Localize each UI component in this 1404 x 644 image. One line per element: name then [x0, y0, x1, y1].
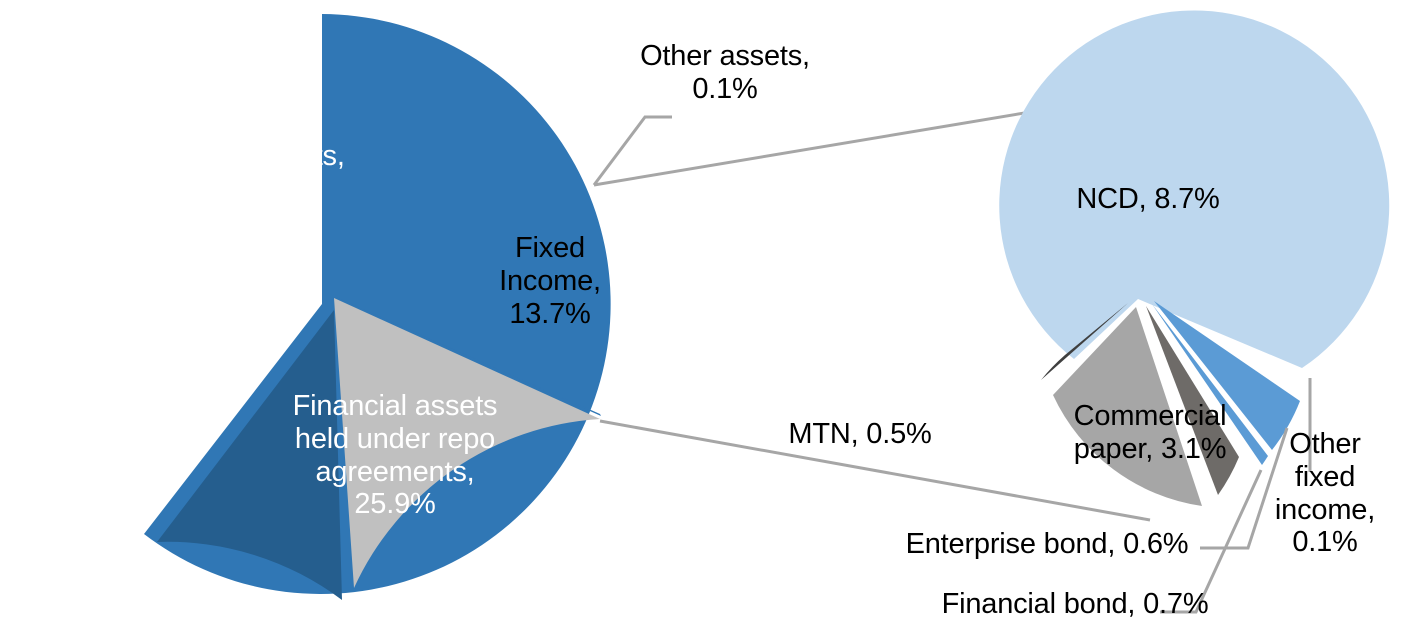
label-other-fixed-income: Other fixed income, 0.1% — [1260, 428, 1390, 559]
label-repo-agreements: Financial assets held under repo agreeme… — [250, 390, 540, 521]
label-fixed-income: Fixed Income, 13.7% — [470, 232, 630, 330]
label-mtn: MTN, 0.5% — [770, 418, 950, 451]
label-other-assets: Other assets, 0.1% — [605, 40, 845, 106]
label-commercial-paper: Commercial paper, 3.1% — [1040, 400, 1260, 466]
label-ncd: NCD, 8.7% — [1048, 183, 1248, 216]
pie-of-pie-chart: Bank deposits, 60.3% Financial assets he… — [0, 0, 1404, 644]
label-financial-bond: Financial bond, 0.7% — [905, 588, 1245, 621]
label-bank-deposits: Bank deposits, 60.3% — [118, 140, 384, 206]
label-enterprise-bond: Enterprise bond, 0.6% — [872, 528, 1222, 561]
